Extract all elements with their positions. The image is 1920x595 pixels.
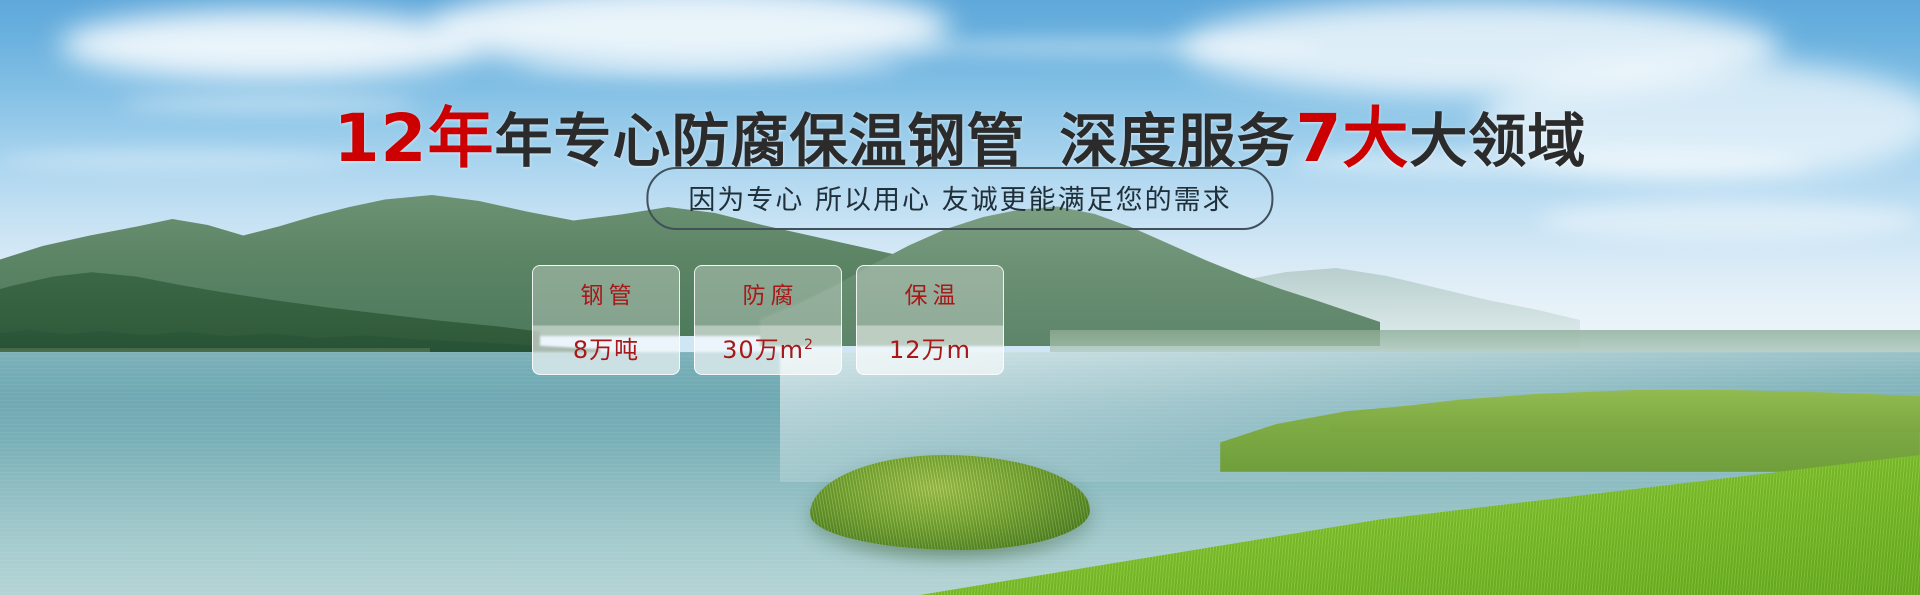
stat-card-label: 防腐 <box>738 276 799 310</box>
cloud-wisp <box>1540 200 1920 240</box>
stat-card-label: 保温 <box>900 276 961 310</box>
cloud-shape <box>60 10 480 80</box>
subtitle-pill: 因为专心 所以用心 友诚更能满足您的需求 <box>646 167 1273 230</box>
stat-card-value-text: 8万吨 <box>573 336 639 364</box>
stat-card-value-text: 12万m <box>889 336 971 364</box>
stat-card-value-superscript: 2 <box>804 337 814 353</box>
stat-card-value-text: 30万m <box>722 336 804 364</box>
stat-card-value: 8万吨 <box>573 330 639 365</box>
cloud-wisp <box>520 60 900 74</box>
headline-part3: 大领域 <box>1409 107 1586 175</box>
hero-banner: 12年年专心防腐保温钢管深度服务7大大领域 因为专心 所以用心 友诚更能满足您的… <box>0 0 1920 595</box>
stat-card-value: 30万m2 <box>722 330 814 365</box>
stat-card-steel-pipe[interactable]: 钢管 8万吨 <box>532 265 680 375</box>
headline-years-number: 12 <box>334 100 428 177</box>
stat-card-value: 12万m <box>889 330 971 365</box>
headline-fields-unit: 大 <box>1342 100 1409 177</box>
headline-years-unit: 年 <box>427 100 494 177</box>
stat-card-group: 钢管 8万吨 防腐 30万m2 保温 12万m <box>532 265 1004 375</box>
headline-part1: 年专心防腐保温钢管 <box>494 107 1025 175</box>
cloud-wisp <box>900 38 1320 56</box>
stat-card-insulation[interactable]: 保温 12万m <box>856 265 1004 375</box>
headline-fields-number: 7 <box>1295 100 1342 177</box>
stat-card-label: 钢管 <box>576 276 637 310</box>
headline-part2: 深度服务 <box>1059 107 1295 175</box>
stat-card-anticorrosion[interactable]: 防腐 30万m2 <box>694 265 842 375</box>
